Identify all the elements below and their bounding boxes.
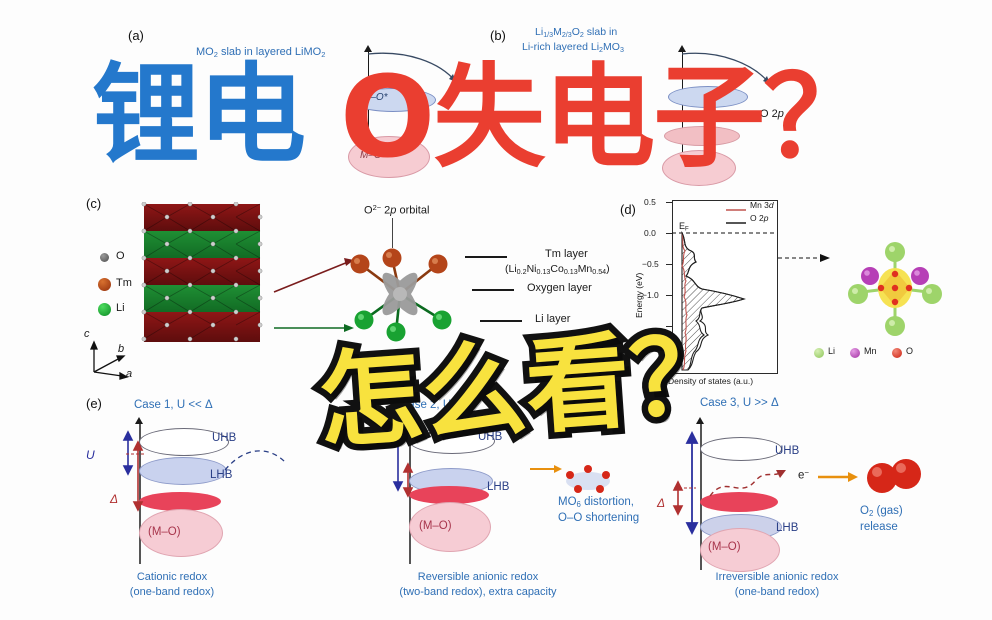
- dos-legend-label-mn: Mn 3d: [750, 200, 774, 211]
- layer-leader-tm: [465, 256, 507, 258]
- legend-dot-li: [98, 303, 111, 316]
- panel-b-title-line1: Li1/3M2/3O2 slab in: [535, 26, 617, 40]
- layer-label-oxygen: Oxygen layer: [527, 282, 592, 296]
- case-1-label-delta: Δ: [110, 492, 118, 507]
- panel-c-axis-c-label: c: [84, 328, 90, 342]
- cluster-legend-dot-mn: [850, 348, 860, 358]
- panel-d-id: (d): [620, 202, 636, 217]
- dos-ytick-2: −0.5: [642, 259, 659, 270]
- case-2-caption-line1: Reversible anionic redox: [368, 570, 588, 584]
- case-2-caption-line2: (two-band redox), extra capacity: [350, 585, 606, 599]
- case-1-caption-line2: (one-band redox): [82, 585, 262, 599]
- dos-to-cluster-arrow-icon: [778, 252, 834, 264]
- case-3-annotation-line2: release: [860, 520, 898, 534]
- legend-label-o: O: [116, 250, 125, 264]
- case-3-caption-line1: Irreversible anionic redox: [664, 570, 890, 584]
- case-1-axis-arrow-icon: [135, 417, 143, 424]
- cluster-legend-dot-o: [892, 348, 902, 358]
- case-3-annotation-line1: O2 (gas): [860, 504, 903, 519]
- panel-c-axis-triad-icon: [86, 332, 146, 380]
- panel-a-id: (a): [128, 28, 144, 43]
- case-2-label-mo: (M–O): [419, 519, 452, 533]
- case-3-label-delta: Δ: [657, 496, 665, 511]
- legend-label-li: Li: [116, 302, 125, 316]
- cluster-legend-label-mn: Mn: [864, 346, 877, 357]
- case-2-annotation-line1: MO6 distortion,: [558, 495, 634, 510]
- case-3-band-uhb: [700, 437, 782, 461]
- dos-ylabel: Energy (eV): [634, 273, 644, 318]
- panel-c-axis-a-label: a: [126, 368, 132, 382]
- li-mn-o-cluster: [840, 236, 950, 346]
- case-3-label-uhb: UHB: [775, 444, 799, 458]
- case-3-label-mo: (M–O): [708, 540, 741, 554]
- cluster-legend-label-o: O: [906, 346, 913, 357]
- orbital-label: O2− 2p orbital: [364, 203, 429, 218]
- dos-ytick-0: 0.5: [644, 197, 656, 208]
- case-3-label-lhb: LHB: [776, 521, 798, 535]
- legend-dot-o: [100, 253, 109, 262]
- cluster-legend-dot-li: [814, 348, 824, 358]
- case-2-annotation-line2: O–O shortening: [558, 511, 639, 525]
- panel-c-axis-b-label: b: [118, 343, 124, 357]
- layer-sublabel-tm: (Li0.2Ni0.13Co0.13Mn0.54): [505, 263, 610, 277]
- mo6-distortion-icon: [530, 455, 620, 495]
- overlay-title-yellow: 怎么看？: [315, 322, 737, 455]
- panel-e-id: (e): [86, 396, 102, 411]
- case-1-param-arrows-icon: [100, 428, 144, 518]
- layer-label-tm: Tm layer: [545, 248, 588, 262]
- dos-legend-label-o: O 2p: [750, 213, 768, 224]
- case-1-caption-line1: Cationic redox: [82, 570, 262, 584]
- o2-molecule-icon: [862, 452, 928, 500]
- overlay-title-blue: 锂电: [92, 62, 304, 170]
- case-3-electron-label: e−: [798, 468, 809, 483]
- legend-dot-tm: [98, 278, 111, 291]
- case-1-label-u: U: [86, 448, 95, 463]
- case-1-title: Case 1, U << Δ: [134, 398, 213, 412]
- case-2-label-lhb: LHB: [487, 480, 509, 494]
- layer-leader-li: [480, 320, 522, 322]
- legend-label-tm: Tm: [116, 277, 132, 291]
- case-3-caption-line2: (one-band redox): [664, 585, 890, 599]
- case-1-to-2-dashed-link: [225, 440, 335, 490]
- layer-leader-oxygen: [472, 289, 514, 291]
- case-1-label-mo: (M–O): [148, 525, 181, 539]
- panel-c-crystal-structure: [140, 202, 270, 352]
- dos-ytick-3: −1.0: [642, 290, 659, 301]
- dos-ytick-1: 0.0: [644, 228, 656, 239]
- cluster-legend-label-li: Li: [828, 346, 835, 357]
- panel-c-id: (c): [86, 196, 101, 211]
- o2-release-arrow-icon: [818, 470, 868, 484]
- overlay-title-red: O失电子？: [340, 62, 873, 174]
- case-3-param-arrows-icon: [660, 430, 708, 540]
- panel-b-id: (b): [490, 28, 506, 43]
